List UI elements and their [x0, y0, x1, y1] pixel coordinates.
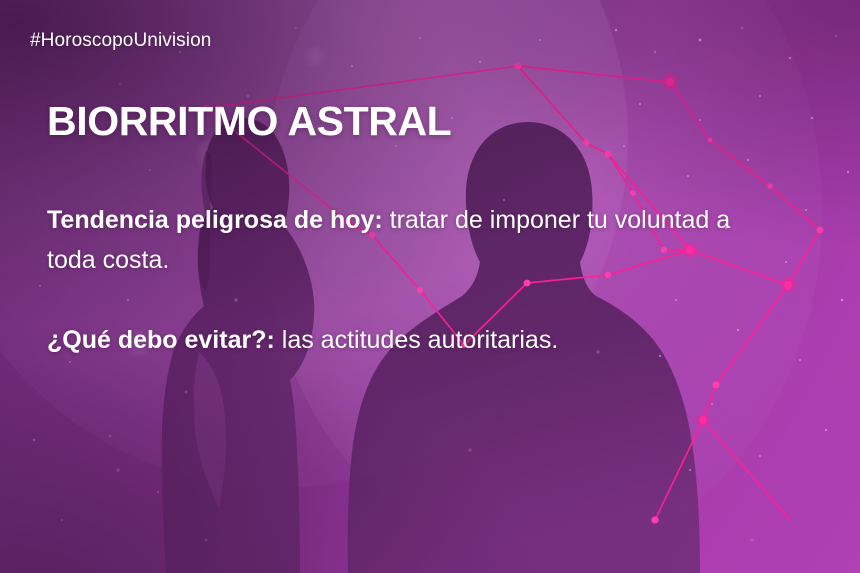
text-content: #HoroscopoUnivision BIORRITMO ASTRAL Ten… — [0, 0, 860, 573]
horoscope-paragraph-1: Tendencia peligrosa de hoy: tratar de im… — [47, 200, 777, 280]
paragraph-1-lead: Tendencia peligrosa de hoy: — [47, 206, 383, 234]
page-title: BIORRITMO ASTRAL — [47, 98, 451, 145]
hashtag-label: #HoroscopoUnivision — [30, 30, 211, 52]
paragraph-2-lead: ¿Qué debo evitar?: — [47, 326, 275, 354]
horoscope-card: #HoroscopoUnivision BIORRITMO ASTRAL Ten… — [0, 0, 860, 573]
horoscope-paragraph-2: ¿Qué debo evitar?: las actitudes autorit… — [47, 320, 777, 360]
paragraph-2-body: las actitudes autoritarias. — [275, 326, 558, 354]
